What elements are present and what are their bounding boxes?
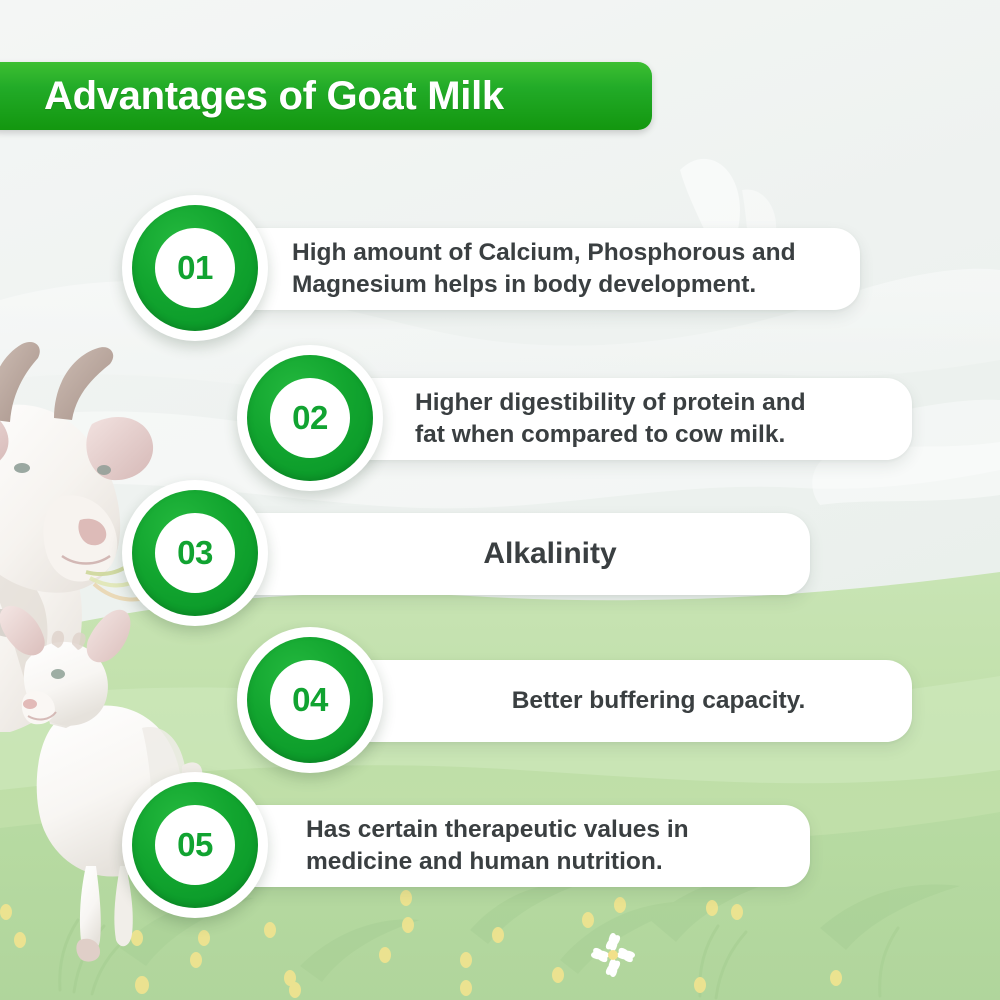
infographic-poster: Advantages of Goat Milk High amount of C… (0, 0, 1000, 1000)
badge-inner-04: 04 (270, 660, 350, 740)
item-card-01[interactable]: High amount of Calcium, Phosphorous and … (190, 228, 860, 310)
item-card-02[interactable]: Higher digestibility of protein and fat … (305, 378, 912, 460)
item-card-05[interactable]: Has certain therapeutic values in medici… (190, 805, 810, 887)
badge-inner-02: 02 (270, 378, 350, 458)
item-text-03: Alkalinity (483, 534, 616, 574)
badge-ring-04: 04 (247, 637, 373, 763)
daisy-flower (591, 933, 636, 978)
item-number-03: 03 (177, 534, 213, 572)
item-card-03[interactable]: Alkalinity (190, 513, 810, 595)
item-badge-03[interactable]: 03 (122, 480, 268, 626)
item-number-05: 05 (177, 826, 213, 864)
item-number-02: 02 (292, 399, 328, 437)
item-badge-02[interactable]: 02 (237, 345, 383, 491)
item-text-02: Higher digestibility of protein and fat … (415, 387, 806, 452)
item-badge-05[interactable]: 05 (122, 772, 268, 918)
page-title: Advantages of Goat Milk (44, 74, 504, 119)
badge-inner-03: 03 (155, 513, 235, 593)
item-badge-01[interactable]: 01 (122, 195, 268, 341)
item-text-01: High amount of Calcium, Phosphorous and … (292, 237, 796, 302)
badge-inner-01: 01 (155, 228, 235, 308)
badge-ring-05: 05 (132, 782, 258, 908)
item-number-01: 01 (177, 249, 213, 287)
badge-ring-02: 02 (247, 355, 373, 481)
item-number-04: 04 (292, 681, 328, 719)
badge-ring-03: 03 (132, 490, 258, 616)
item-badge-04[interactable]: 04 (237, 627, 383, 773)
badge-inner-05: 05 (155, 805, 235, 885)
badge-ring-01: 01 (132, 205, 258, 331)
item-text-05: Has certain therapeutic values in medici… (306, 814, 689, 879)
item-text-04: Better buffering capacity. (512, 685, 806, 717)
item-card-04[interactable]: Better buffering capacity. (305, 660, 912, 742)
page-title-bar: Advantages of Goat Milk (0, 62, 652, 130)
